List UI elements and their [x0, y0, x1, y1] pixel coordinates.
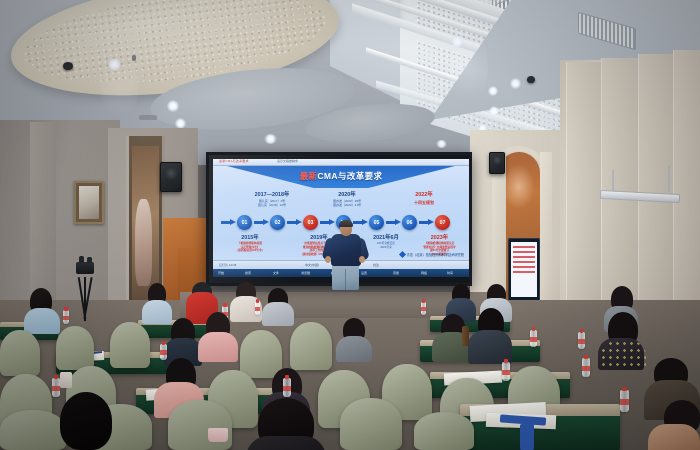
attendee-body-r2-2 — [246, 436, 326, 450]
downlight-glow-1 — [448, 28, 488, 108]
timeline-arrow-5 — [386, 219, 402, 226]
timeline-arrow-3 — [320, 219, 336, 226]
dome-camera-icon-1 — [63, 62, 73, 70]
timeline-arrow-6 — [419, 219, 435, 226]
camera-mic-icon — [87, 257, 92, 263]
water-bottle-8 — [283, 378, 291, 397]
attendee-body-r5-5 — [262, 302, 294, 326]
ppt-ribbon: 最新CMA与改革要求 演示文稿放映中 — [213, 159, 469, 166]
camera-lens-icon — [79, 256, 84, 263]
attendee-body-r4-2 — [198, 332, 238, 362]
video-camera-icon — [76, 262, 94, 274]
attendee-body-r5-1 — [24, 308, 60, 334]
water-bottle-3 — [255, 302, 260, 315]
slide-footer-logo: 青岛（北京）检验检测和科学技术研究院 — [400, 252, 464, 257]
milestone-top-1: 2017—2018年 国认实〔2017〕2号 国认实〔2018〕12号 — [235, 190, 309, 207]
attendee-body-r4-3 — [336, 336, 372, 362]
downlight-4 — [264, 134, 277, 144]
tote-bag — [520, 424, 534, 450]
ppt-ribbon-title: 最新CMA与改革要求 — [219, 159, 249, 163]
wall-speaker-icon-2 — [489, 152, 505, 174]
water-bottle-5 — [160, 344, 167, 360]
chair-r2-4[interactable] — [340, 398, 402, 450]
slide-title-rest: CMA与改革要求 — [317, 171, 382, 181]
timeline-node-01: 01 — [237, 215, 252, 230]
timeline-node-02: 02 — [270, 215, 285, 230]
chair-r4-4[interactable] — [240, 330, 282, 378]
milestone-top-3: 2022年 十四五规划 — [389, 190, 459, 205]
timeline-node-05: 05 — [369, 215, 384, 230]
dome-camera-icon-2 — [527, 76, 535, 83]
downlight-6 — [510, 78, 521, 89]
chair-r4-1[interactable] — [0, 330, 40, 376]
chair-r4-5[interactable] — [290, 322, 332, 370]
water-bottle-9 — [502, 362, 510, 381]
chair-r2-5[interactable] — [414, 412, 474, 450]
timeline-arrow-1 — [254, 219, 270, 226]
water-bottle-6 — [530, 330, 537, 347]
sprinkler-icon-1 — [132, 55, 136, 61]
timeline-node-06: 06 — [402, 215, 417, 230]
timeline-arrow-0 — [221, 219, 237, 226]
presenter-hand-left — [325, 256, 331, 263]
chair-r4-2[interactable] — [56, 326, 94, 370]
slide-title-highlight: 最新 — [300, 171, 318, 181]
arch-column-2 — [540, 152, 552, 302]
water-bottle-7 — [578, 332, 585, 349]
ppt-ribbon-subtitle: 演示文稿放映中 — [277, 159, 298, 163]
water-bottle-10 — [582, 358, 590, 377]
milestone-bottom-3: 2021年6月 163号令修正定 2021号令 — [359, 233, 413, 249]
paper-cup-2 — [208, 428, 228, 442]
chair-r4-3[interactable] — [110, 322, 150, 368]
attendee-hair-r2-1 — [60, 392, 112, 450]
paper-cup-1 — [60, 372, 72, 388]
wall-speaker-icon — [160, 162, 182, 192]
taskbar-item-1[interactable]: 开始 — [218, 271, 224, 275]
water-bottle-11 — [52, 378, 60, 397]
ceiling-slot-vent — [139, 115, 157, 120]
water-bottle-4 — [421, 302, 426, 315]
downlight-8 — [489, 106, 499, 116]
conference-room-photo: 最新CMA与改革要求 演示文稿放映中 最新CMA与改革要求 2017—2018年… — [0, 0, 700, 450]
taskbar-item-7[interactable]: 音量 — [393, 271, 399, 275]
milestone-top-2: 2020年 国办发〔2020〕28号 国办发〔2020〕41号 — [311, 190, 383, 207]
downlight-7 — [488, 86, 498, 96]
water-bottle-1 — [63, 310, 69, 324]
taskbar-item-3[interactable]: 文件 — [273, 271, 279, 275]
slide-title: 最新CMA与改革要求 — [213, 170, 469, 182]
arch-column — [492, 152, 506, 302]
chair-r2-1[interactable] — [0, 410, 66, 450]
ppt-status-item-2: 中文(中国) — [305, 263, 319, 267]
attendee-pattern-r4-6 — [600, 340, 646, 370]
presenter-hand-right — [359, 256, 365, 263]
presenter-legs — [332, 264, 359, 290]
whiteboard-rod-2 — [668, 166, 670, 192]
taskbar-item-2[interactable]: 搜索 — [245, 271, 251, 275]
downlight-glow-2 — [100, 52, 138, 122]
water-bottle-12 — [620, 390, 629, 412]
taskbar-item-4[interactable]: 浏览器 — [301, 271, 310, 275]
timeline-arrow-4 — [353, 219, 369, 226]
timeline-node-03: 03 — [303, 215, 318, 230]
taskbar-item-8[interactable]: 网络 — [421, 271, 427, 275]
taskbar-item-6[interactable]: 设置 — [361, 271, 367, 275]
attendee-body-r2-3 — [648, 424, 700, 450]
downlight-2 — [167, 100, 179, 112]
timeline-node-07: 07 — [435, 215, 450, 230]
milestone-bottom-1: 2015年 《检验检测机构资质 认定管理办法》 (原质检总局163号令) — [219, 233, 281, 253]
thermos-1 — [462, 326, 469, 346]
ppt-status-item-3: 批注 — [373, 263, 379, 267]
framed-artwork — [74, 181, 104, 224]
taskbar-item-9[interactable]: 时间 — [447, 271, 453, 275]
chair-r2-3[interactable] — [168, 400, 232, 450]
logo-diamond-icon — [399, 251, 406, 258]
ppt-status-item-1: 幻灯片 12/48 — [219, 263, 236, 267]
presenter-hair — [339, 220, 353, 227]
timeline-arrow-2 — [287, 219, 303, 226]
attendee-body-r5-2 — [142, 300, 172, 324]
downlight-11 — [436, 140, 447, 148]
